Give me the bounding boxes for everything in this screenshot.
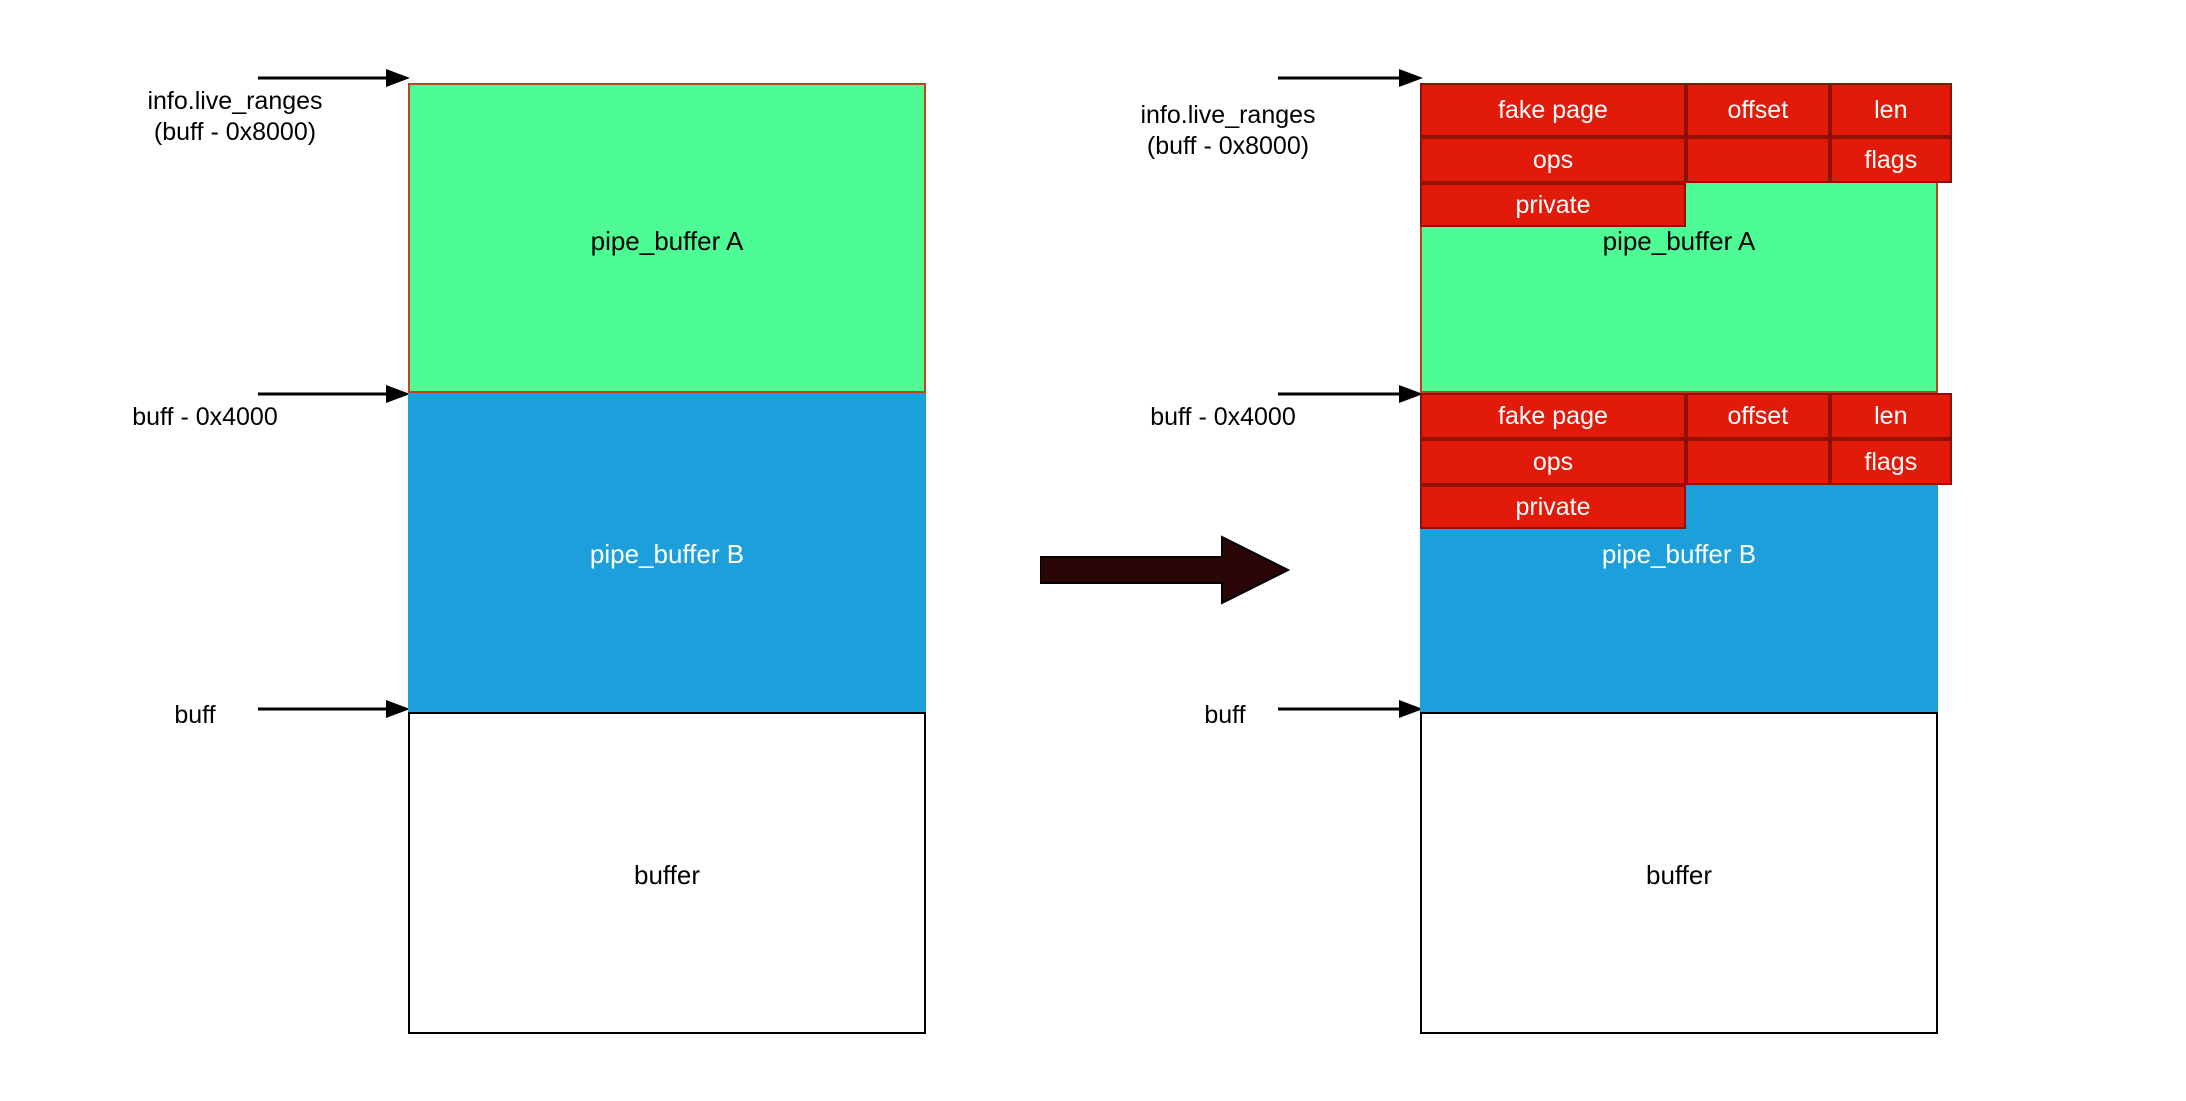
pointer-arrow-buff-left (258, 699, 410, 719)
pointer-arrow-buff-0x4000-left (258, 384, 410, 404)
diagram-canvas: info.live_ranges (buff - 0x8000) buff - … (0, 0, 2186, 1101)
before-state-diagram: info.live_ranges (buff - 0x8000) buff - … (0, 0, 1000, 1101)
region-buffer-right: buffer (1420, 712, 1938, 1034)
struct-row: ops flags (1420, 137, 1952, 183)
struct-cell-flags: flags (1830, 439, 1952, 485)
region-pipe-buffer-a-left: pipe_buffer A (408, 83, 926, 393)
fake-pipe-buffer-struct-b: fake page offset len ops flags private (1420, 393, 1952, 529)
struct-cell-fake-page: fake page (1420, 393, 1686, 439)
struct-cell-private: private (1420, 485, 1686, 529)
struct-row: fake page offset len (1420, 393, 1952, 439)
pointer-arrow-buff-0x4000-right (1278, 384, 1423, 404)
struct-cell-padding (1686, 439, 1830, 485)
pointer-label-info-live-ranges-left: info.live_ranges (buff - 0x8000) (130, 86, 340, 147)
struct-cell-ops: ops (1420, 137, 1686, 183)
struct-row: fake page offset len (1420, 83, 1952, 137)
pointer-label-info-live-ranges-right: info.live_ranges (buff - 0x8000) (1123, 100, 1333, 161)
region-pipe-buffer-b-left: pipe_buffer B (408, 393, 926, 713)
region-label-pipe-buffer-b-right: pipe_buffer B (1420, 541, 1938, 567)
after-state-diagram: info.live_ranges (buff - 0x8000) buff - … (1000, 0, 2186, 1101)
region-buffer-left: buffer (408, 712, 926, 1034)
struct-cell-spacer (1686, 183, 1952, 227)
struct-cell-len: len (1830, 393, 1952, 439)
struct-row: ops flags (1420, 439, 1952, 485)
struct-cell-spacer (1686, 485, 1952, 529)
struct-cell-offset: offset (1686, 83, 1830, 137)
fake-pipe-buffer-struct-a: fake page offset len ops flags private (1420, 83, 1952, 227)
pointer-arrow-info-live-ranges-left (258, 68, 410, 88)
struct-cell-flags: flags (1830, 137, 1952, 183)
pointer-label-buff-0x4000-left: buff - 0x4000 (110, 402, 300, 433)
struct-cell-fake-page: fake page (1420, 83, 1686, 137)
struct-row: private (1420, 485, 1952, 529)
struct-cell-private: private (1420, 183, 1686, 227)
region-label-pipe-buffer-a-left: pipe_buffer A (410, 228, 924, 254)
pointer-arrow-info-live-ranges-right (1278, 68, 1423, 88)
struct-cell-padding (1686, 137, 1830, 183)
pointer-arrow-buff-right (1278, 699, 1423, 719)
struct-cell-len: len (1830, 83, 1952, 137)
region-label-buffer-left: buffer (410, 862, 924, 888)
region-label-pipe-buffer-a-right: pipe_buffer A (1422, 228, 1936, 254)
struct-cell-ops: ops (1420, 439, 1686, 485)
region-label-buffer-right: buffer (1422, 862, 1936, 888)
pointer-label-buff-left: buff (150, 700, 240, 731)
struct-cell-offset: offset (1686, 393, 1830, 439)
pointer-label-buff-right: buff (1180, 700, 1270, 731)
region-label-pipe-buffer-b-left: pipe_buffer B (408, 541, 926, 567)
struct-row: private (1420, 183, 1952, 227)
pointer-label-buff-0x4000-right: buff - 0x4000 (1128, 402, 1318, 433)
